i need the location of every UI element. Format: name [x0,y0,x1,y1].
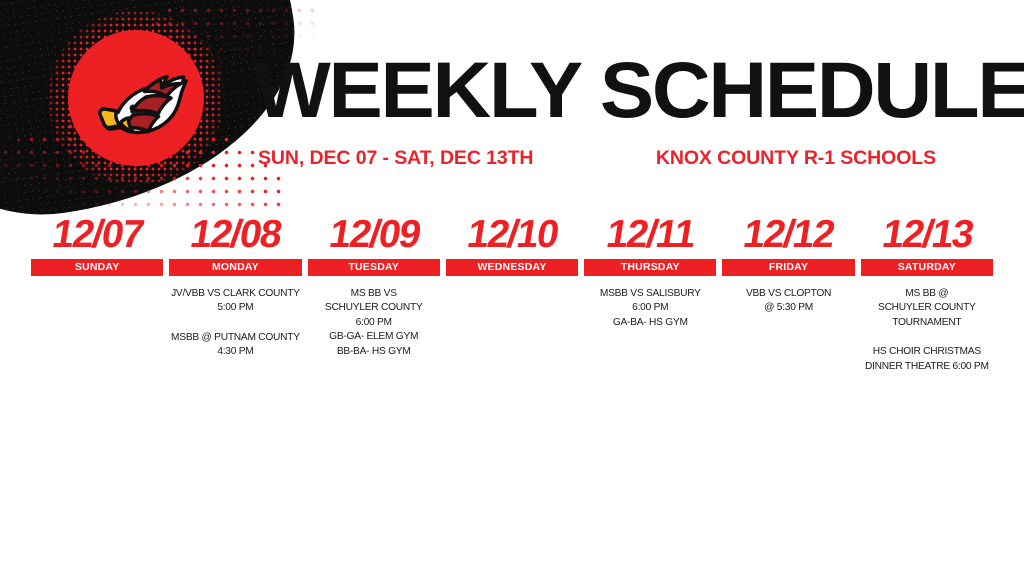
event-line: JV/VBB VS CLARK COUNTY [169,287,301,301]
day-column-monday: 12/08MONDAYJV/VBB VS CLARK COUNTY5:00 PM… [169,215,301,374]
day-name-banner: FRIDAY [722,259,854,276]
event-line: MSBB @ PUTNAM COUNTY [169,331,301,345]
day-events: MS BB VSSCHUYLER COUNTY6:00 PMGB-GA- ELE… [308,276,440,359]
event-line: @ 5:30 PM [722,301,854,315]
day-name-banner: SATURDAY [861,259,993,276]
day-column-saturday: 12/13SATURDAYMS BB @SCHUYLER COUNTYTOURN… [861,215,993,374]
event-line: GA-BA- HS GYM [584,316,716,330]
page-title: WEEKLY SCHEDULE [254,56,975,124]
event-block: MS BB @SCHUYLER COUNTYTOURNAMENT [861,287,993,330]
event-line: 6:00 PM [308,316,440,330]
event-line: MSBB VS SALISBURY [584,287,716,301]
header-banner: WEEKLY SCHEDULE SUN, DEC 07 - SAT, DEC 1… [0,0,1024,215]
eagle-mascot-logo [85,62,189,142]
day-events [31,276,163,287]
day-events: MS BB @SCHUYLER COUNTYTOURNAMENTHS CHOIR… [861,276,993,374]
day-name-banner: TUESDAY [308,259,440,276]
event-line: SCHUYLER COUNTY [861,301,993,315]
event-line: TOURNAMENT [861,316,993,330]
day-date: 12/08 [166,215,305,259]
event-block: MSBB VS SALISBURY6:00 PMGA-BA- HS GYM [584,287,716,330]
event-block: HS CHOIR CHRISTMASDINNER THEATRE 6:00 PM [861,345,993,374]
event-line: 4:30 PM [169,345,301,359]
day-date: 12/11 [581,215,720,259]
day-events [446,276,578,287]
day-name-banner: MONDAY [169,259,301,276]
subtitle-row: SUN, DEC 07 - SAT, DEC 13TH KNOX COUNTY … [258,147,958,170]
day-date: 12/07 [28,215,167,259]
day-column-tuesday: 12/09TUESDAYMS BB VSSCHUYLER COUNTY6:00 … [308,215,440,374]
event-line: DINNER THEATRE 6:00 PM [861,360,993,374]
organization-label: KNOX COUNTY R-1 SCHOOLS [656,147,936,170]
day-column-sunday: 12/07SUNDAY [31,215,163,374]
event-block: JV/VBB VS CLARK COUNTY5:00 PM [169,287,301,316]
event-line: BB-BA- HS GYM [308,345,440,359]
day-date: 12/09 [304,215,443,259]
event-line: MS BB @ [861,287,993,301]
day-column-wednesday: 12/10WEDNESDAY [446,215,578,374]
day-events: MSBB VS SALISBURY6:00 PMGA-BA- HS GYM [584,276,716,330]
event-block: MSBB @ PUTNAM COUNTY4:30 PM [169,331,301,360]
day-name-banner: SUNDAY [31,259,163,276]
title-block: WEEKLY SCHEDULE [254,56,954,124]
event-line: HS CHOIR CHRISTMAS [861,345,993,359]
day-date: 12/12 [719,215,858,259]
event-line: SCHUYLER COUNTY [308,301,440,315]
day-name-banner: WEDNESDAY [446,259,578,276]
event-line: 5:00 PM [169,301,301,315]
day-events: VBB VS CLOPTON@ 5:30 PM [722,276,854,316]
day-date: 12/13 [857,215,996,259]
event-line: 6:00 PM [584,301,716,315]
day-date: 12/10 [442,215,581,259]
day-column-thursday: 12/11THURSDAYMSBB VS SALISBURY6:00 PMGA-… [584,215,716,374]
day-name-banner: THURSDAY [584,259,716,276]
event-block: MS BB VSSCHUYLER COUNTY6:00 PMGB-GA- ELE… [308,287,440,359]
day-events: JV/VBB VS CLARK COUNTY5:00 PMMSBB @ PUTN… [169,276,301,360]
event-line: MS BB VS [308,287,440,301]
date-range-label: SUN, DEC 07 - SAT, DEC 13TH [258,147,533,170]
event-line: GB-GA- ELEM GYM [308,330,440,344]
weekly-schedule-grid: 12/07SUNDAY12/08MONDAYJV/VBB VS CLARK CO… [0,215,1024,374]
event-block: VBB VS CLOPTON@ 5:30 PM [722,287,854,316]
event-line: VBB VS CLOPTON [722,287,854,301]
day-column-friday: 12/12FRIDAYVBB VS CLOPTON@ 5:30 PM [722,215,854,374]
